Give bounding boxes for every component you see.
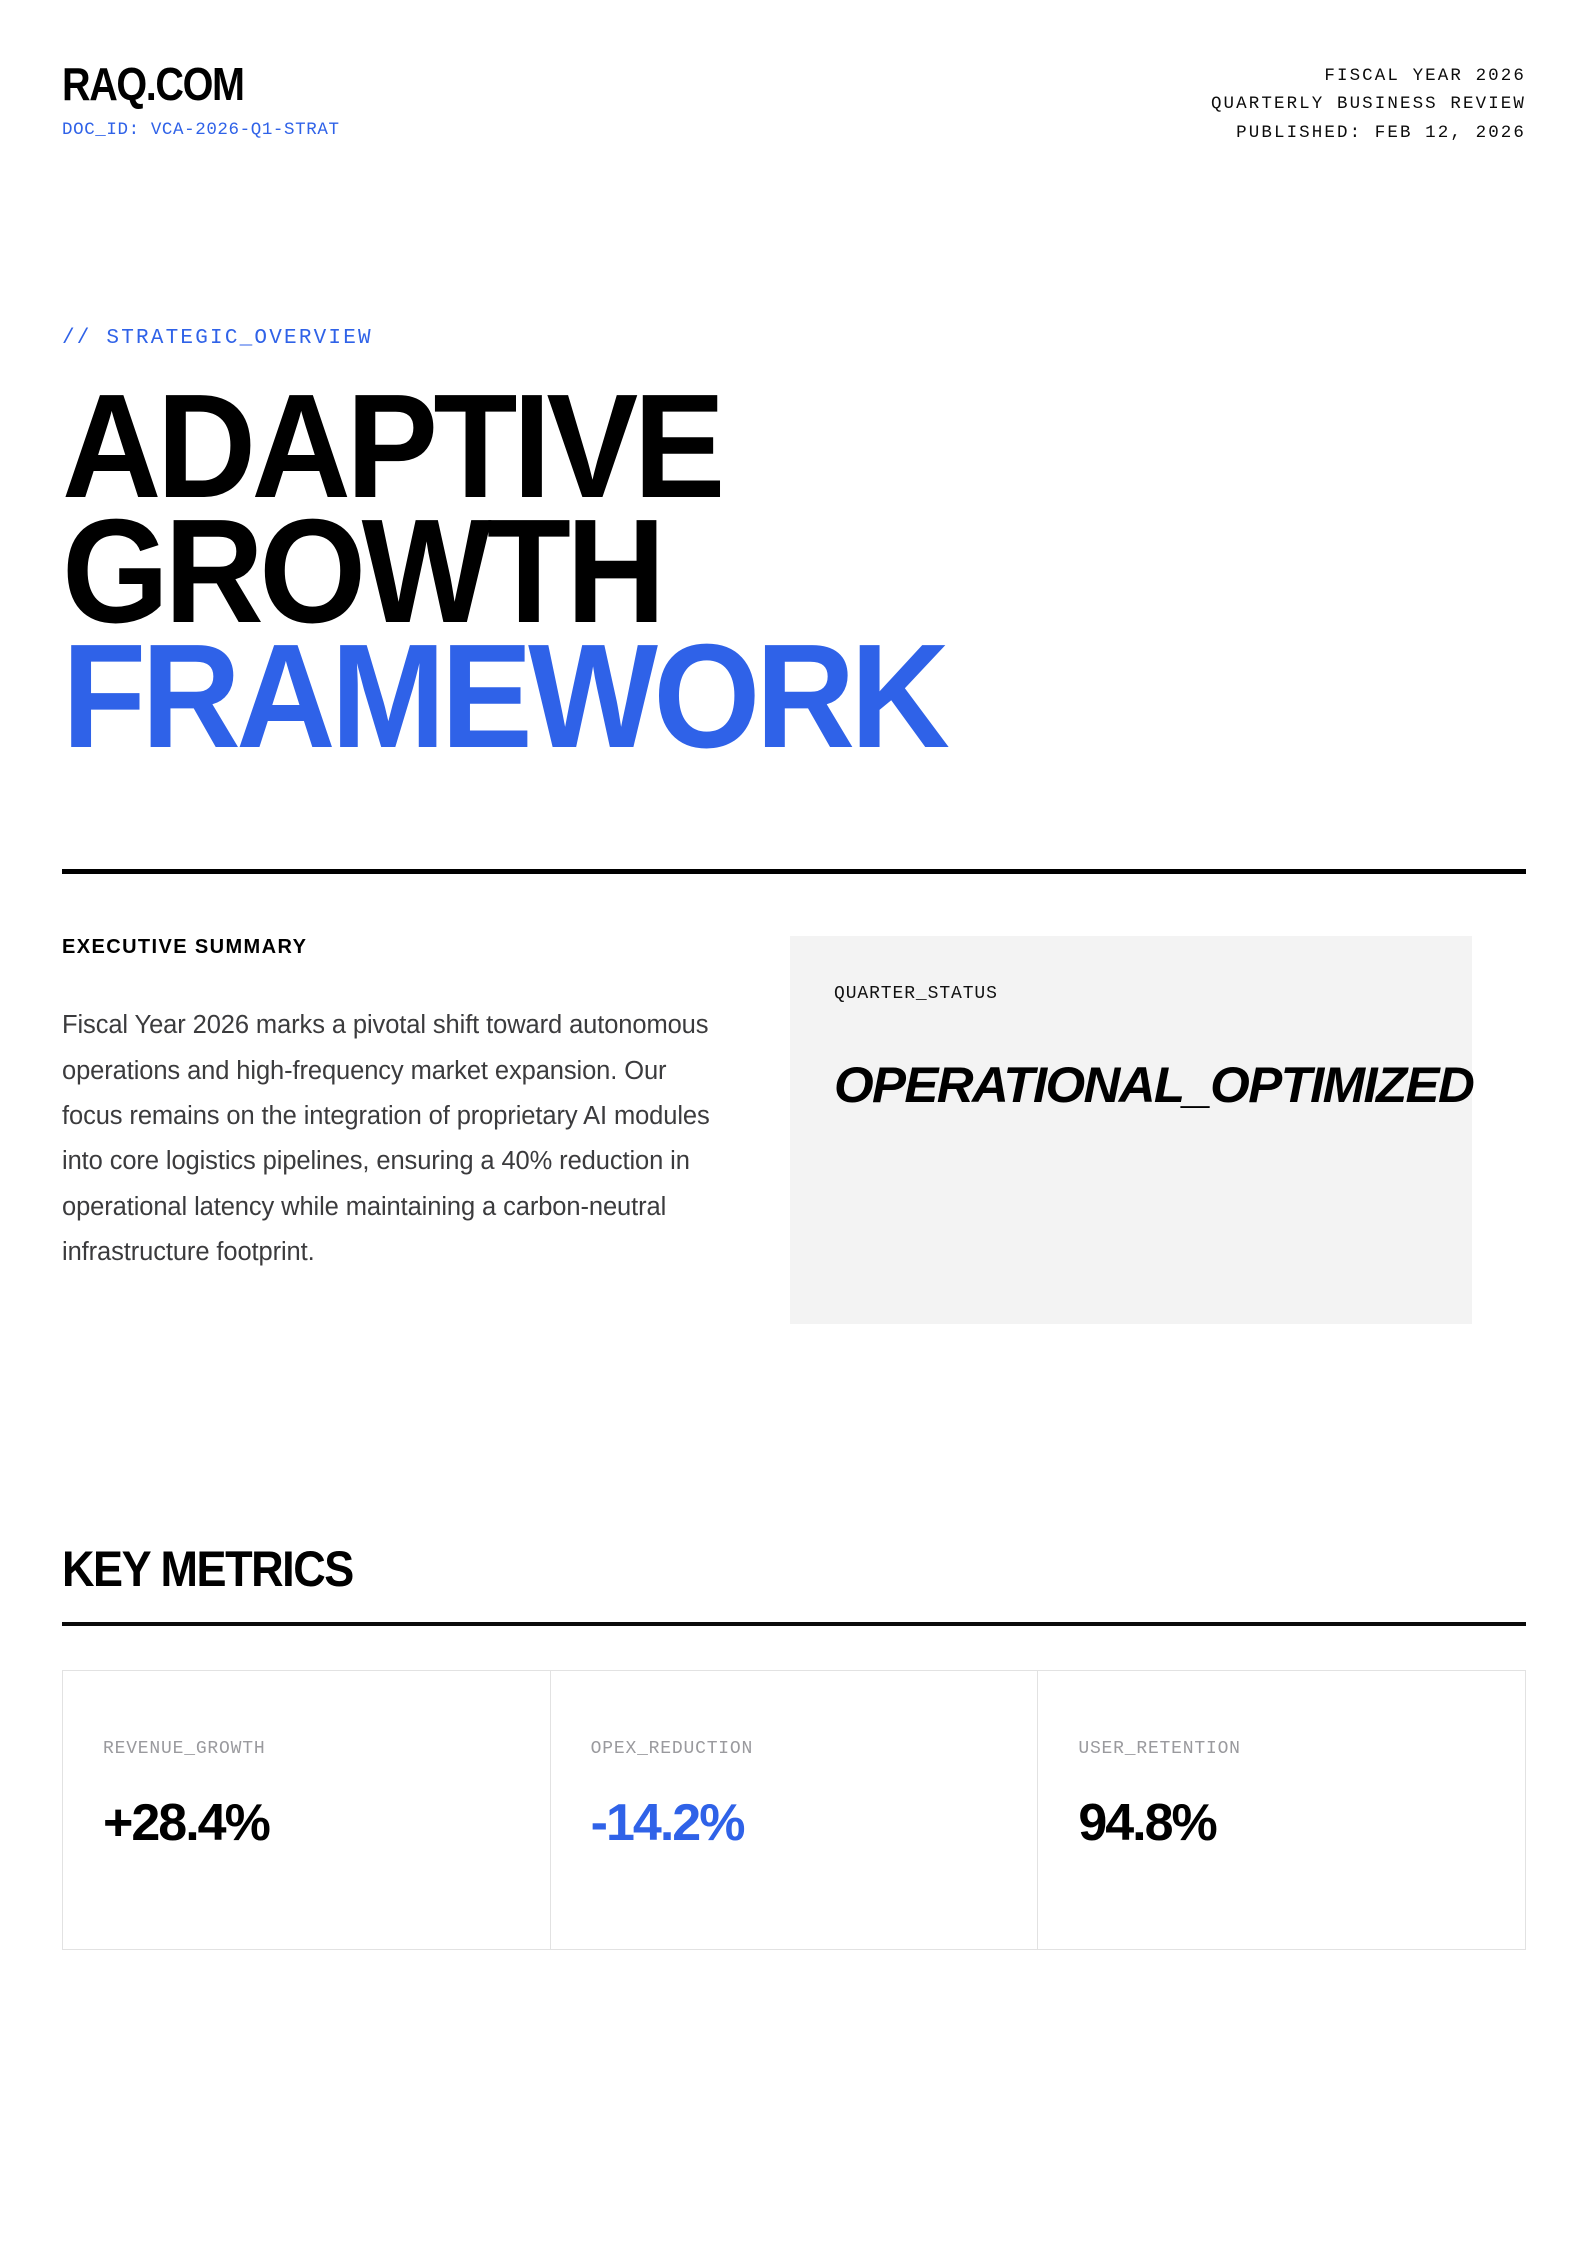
summary-row: EXECUTIVE SUMMARY Fiscal Year 2026 marks… — [62, 936, 1526, 1324]
document-id: DOC_ID: VCA-2026-Q1-STRAT — [62, 120, 340, 140]
page-title-line-3: FRAMEWORK — [62, 634, 1424, 759]
brand-block: RAQ.COM DOC_ID: VCA-2026-Q1-STRAT — [62, 62, 340, 140]
header-meta-review-type: QUARTERLY BUSINESS REVIEW — [1211, 90, 1526, 118]
document-header: RAQ.COM DOC_ID: VCA-2026-Q1-STRAT FISCAL… — [62, 62, 1526, 147]
header-meta-fiscal-year: FISCAL YEAR 2026 — [1211, 62, 1526, 90]
metric-card[interactable]: OPEX_REDUCTION -14.2% — [551, 1671, 1039, 1949]
executive-summary-body: Fiscal Year 2026 marks a pivotal shift t… — [62, 1003, 714, 1275]
metric-card[interactable]: REVENUE_GROWTH +28.4% — [63, 1671, 551, 1949]
metric-value: 94.8% — [1078, 1793, 1485, 1853]
document-page: RAQ.COM DOC_ID: VCA-2026-Q1-STRAT FISCAL… — [0, 0, 1588, 2246]
key-metrics-grid: REVENUE_GROWTH +28.4% OPEX_REDUCTION -14… — [62, 1670, 1526, 1950]
quarter-status-label: QUARTER_STATUS — [834, 984, 1472, 1004]
hero-section: // STRATEGIC_OVERVIEW ADAPTIVE GROWTH FR… — [62, 327, 1526, 759]
executive-summary: EXECUTIVE SUMMARY Fiscal Year 2026 marks… — [62, 936, 714, 1275]
key-metrics-section: KEY METRICS REVENUE_GROWTH +28.4% OPEX_R… — [62, 1540, 1526, 1950]
quarter-status-value: OPERATIONAL_OPTIMIZED — [834, 1056, 1473, 1114]
key-metrics-divider — [62, 1622, 1526, 1626]
section-divider — [62, 869, 1526, 874]
metric-label: OPEX_REDUCTION — [591, 1739, 998, 1759]
quarter-status-panel: QUARTER_STATUS OPERATIONAL_OPTIMIZED — [790, 936, 1472, 1324]
brand-logo[interactable]: RAQ.COM — [62, 62, 301, 106]
metric-value: -14.2% — [591, 1793, 998, 1853]
header-meta-published: PUBLISHED: FEB 12, 2026 — [1211, 119, 1526, 147]
metric-label: USER_RETENTION — [1078, 1739, 1485, 1759]
metric-value: +28.4% — [103, 1793, 510, 1853]
header-meta: FISCAL YEAR 2026 QUARTERLY BUSINESS REVI… — [1211, 62, 1526, 147]
metric-card[interactable]: USER_RETENTION 94.8% — [1038, 1671, 1525, 1949]
section-kicker: // STRATEGIC_OVERVIEW — [62, 327, 1526, 350]
page-title: ADAPTIVE GROWTH FRAMEWORK — [62, 384, 1526, 759]
key-metrics-title: KEY METRICS — [62, 1540, 1380, 1598]
metric-label: REVENUE_GROWTH — [103, 1739, 510, 1759]
executive-summary-heading: EXECUTIVE SUMMARY — [62, 936, 714, 959]
